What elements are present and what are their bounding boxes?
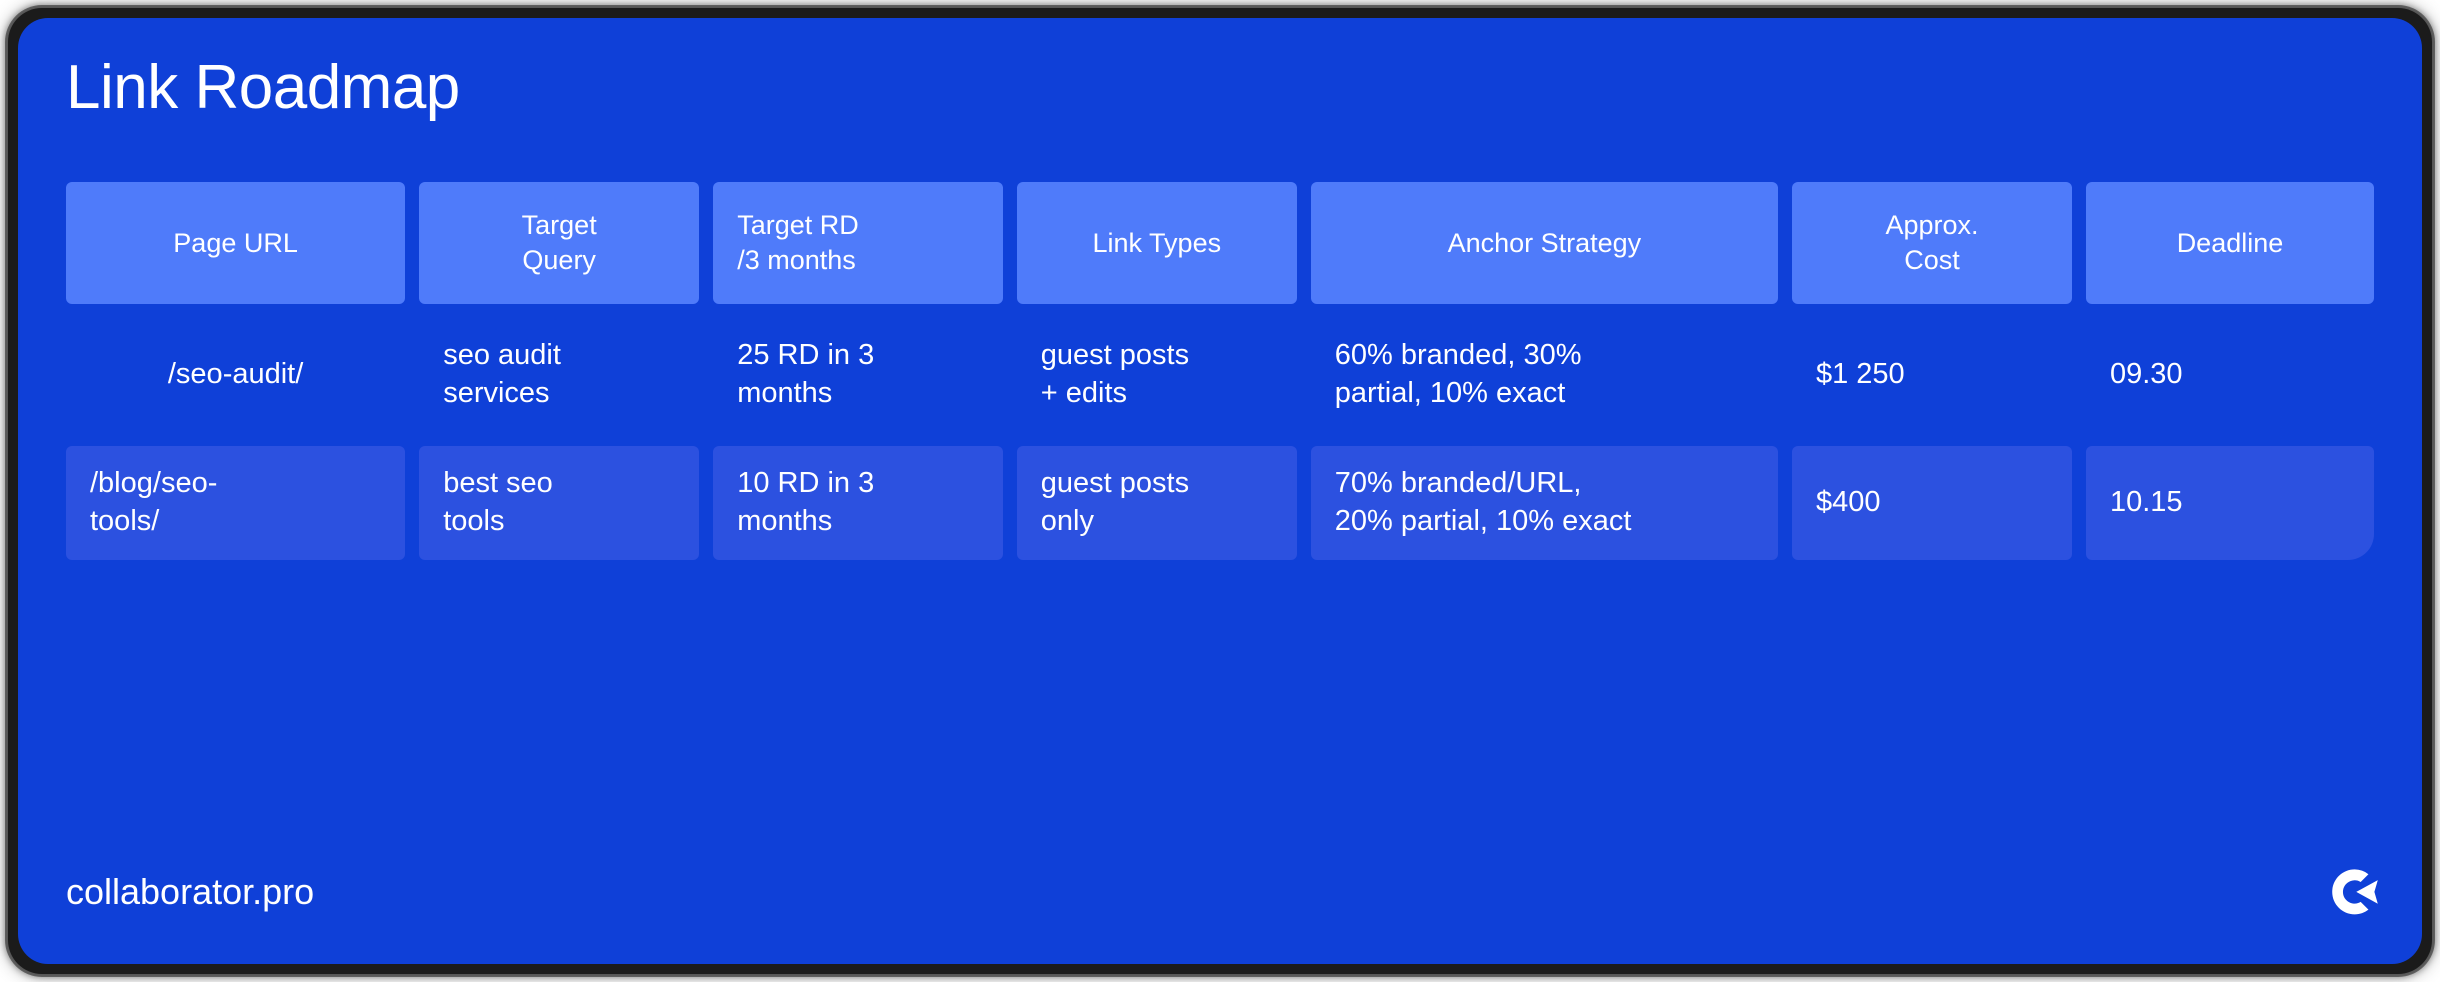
column-header-label: Link Types <box>1093 226 1222 261</box>
column-header-target-rd: Target RD /3 months <box>713 182 1003 304</box>
column-header-approx-cost: Approx. Cost <box>1792 182 2072 304</box>
table-row: /seo-audit/ seo audit services 25 RD in … <box>66 318 2374 432</box>
cell-target-rd: 25 RD in 3 months <box>713 318 1003 432</box>
table-header-row: Page URL Target Query Target RD /3 month… <box>66 182 2374 304</box>
cell-target-rd: 10 RD in 3 months <box>713 446 1003 560</box>
column-header-deadline: Deadline <box>2086 182 2374 304</box>
cell-deadline: 09.30 <box>2086 318 2374 432</box>
column-header-label: Approx. Cost <box>1885 208 1978 277</box>
collaborator-c-cursor-logo-icon <box>2326 864 2382 920</box>
screenshot-root: Link Roadmap Page URL Target Query Targe… <box>0 0 2440 982</box>
cell-value: /seo-audit/ <box>168 356 303 394</box>
cell-value: guest posts + edits <box>1041 337 1189 412</box>
column-header-label: Target Query <box>522 208 597 277</box>
page-title: Link Roadmap <box>66 54 460 122</box>
cell-value: $400 <box>1816 484 1881 522</box>
cell-value: /blog/seo- tools/ <box>90 465 217 540</box>
link-roadmap-table: Page URL Target Query Target RD /3 month… <box>66 182 2374 574</box>
cell-target-query: seo audit services <box>419 318 699 432</box>
cell-link-types: guest posts + edits <box>1017 318 1297 432</box>
column-header-label: Page URL <box>173 226 298 261</box>
cell-link-types: guest posts only <box>1017 446 1297 560</box>
column-header-target-query: Target Query <box>419 182 699 304</box>
cell-anchor-strategy: 70% branded/URL, 20% partial, 10% exact <box>1311 446 1778 560</box>
cell-approx-cost: $400 <box>1792 446 2072 560</box>
column-header-label: Anchor Strategy <box>1448 226 1642 261</box>
cell-value: guest posts only <box>1041 465 1189 540</box>
cell-value: 09.30 <box>2110 356 2183 394</box>
cell-value: 70% branded/URL, 20% partial, 10% exact <box>1335 465 1632 540</box>
column-header-anchor-strategy: Anchor Strategy <box>1311 182 1778 304</box>
cell-value: best seo tools <box>443 465 553 540</box>
brand-name: collaborator.pro <box>66 871 314 913</box>
column-header-label: Target RD /3 months <box>737 208 859 277</box>
cell-approx-cost: $1 250 <box>1792 318 2072 432</box>
cell-target-query: best seo tools <box>419 446 699 560</box>
cell-page-url: /seo-audit/ <box>66 318 405 432</box>
table-row: /blog/seo- tools/ best seo tools 10 RD i… <box>66 446 2374 560</box>
cell-value: 10.15 <box>2110 484 2183 522</box>
cell-value: 25 RD in 3 months <box>737 337 874 412</box>
cell-anchor-strategy: 60% branded, 30% partial, 10% exact <box>1311 318 1778 432</box>
cell-value: $1 250 <box>1816 356 1905 394</box>
cell-value: seo audit services <box>443 337 561 412</box>
column-header-label: Deadline <box>2177 226 2284 261</box>
column-header-link-types: Link Types <box>1017 182 1297 304</box>
cell-value: 60% branded, 30% partial, 10% exact <box>1335 337 1582 412</box>
infographic-card: Link Roadmap Page URL Target Query Targe… <box>18 18 2422 964</box>
column-header-page-url: Page URL <box>66 182 405 304</box>
cell-value: 10 RD in 3 months <box>737 465 874 540</box>
cell-page-url: /blog/seo- tools/ <box>66 446 405 560</box>
card-footer: collaborator.pro <box>66 862 2382 922</box>
cell-deadline: 10.15 <box>2086 446 2374 560</box>
